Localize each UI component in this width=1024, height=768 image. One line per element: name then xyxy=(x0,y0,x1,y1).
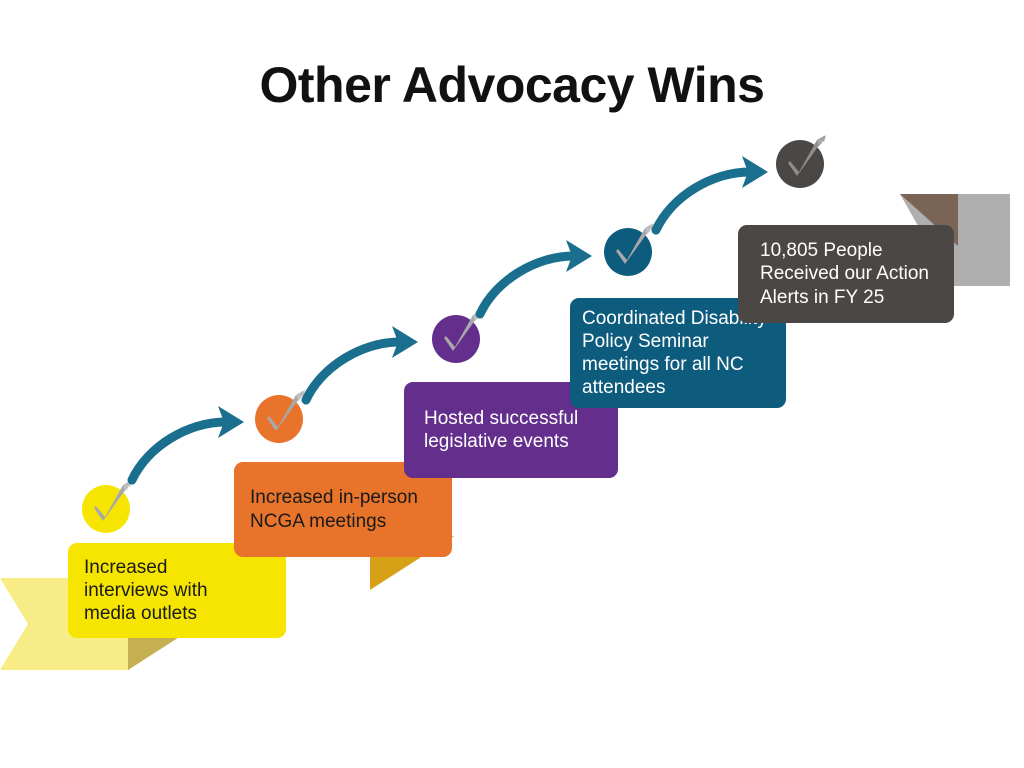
step-card-4-text: Coordinated Disability Policy Seminar me… xyxy=(582,307,767,400)
page-title: Other Advocacy Wins xyxy=(0,56,1024,114)
arrow-2 xyxy=(300,318,428,408)
step-card-5-text: 10,805 People Received our Action Alerts… xyxy=(760,239,929,309)
arrow-1 xyxy=(126,398,254,488)
step-card-5[interactable]: 10,805 People Received our Action Alerts… xyxy=(738,225,954,323)
step-card-1[interactable]: Increased interviews with media outlets xyxy=(68,543,286,638)
step-card-1-text: Increased interviews with media outlets xyxy=(84,556,208,626)
step-card-3-text: Hosted successful legislative events xyxy=(424,407,578,453)
infographic-canvas: Other Advocacy Wins Increased interviews… xyxy=(0,0,1024,768)
arrow-4 xyxy=(650,148,778,238)
arrow-3 xyxy=(474,232,602,322)
check-badge-5 xyxy=(772,130,834,197)
step-card-2-text: Increased in-person NCGA meetings xyxy=(250,486,418,532)
